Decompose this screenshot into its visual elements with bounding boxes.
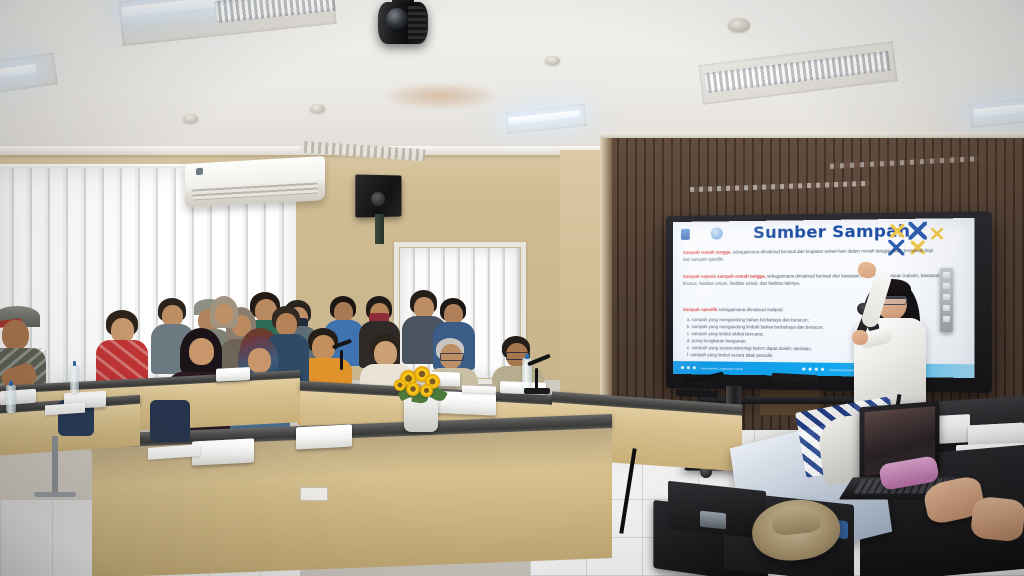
camera-lens-icon: [386, 8, 408, 32]
display-side-control-panel[interactable]: [940, 268, 953, 332]
smoke-detector-icon: [310, 104, 325, 113]
slide-paragraph-1-lead: Sampah rumah tangga,: [683, 250, 732, 255]
sunflower: [406, 382, 420, 396]
chair-base: [34, 492, 76, 497]
ceiling-water-stain: [386, 84, 494, 108]
display-button-4[interactable]: [943, 305, 950, 311]
eyeglasses-icon: [440, 353, 464, 361]
desk-label: [300, 487, 328, 501]
presenter-hand: [852, 330, 868, 345]
console-display: [700, 511, 726, 530]
chair-leg: [52, 436, 58, 496]
slide-footer-left-text: Kementerian Lingkungan Hidup: [701, 366, 743, 371]
display-button-3[interactable]: [943, 294, 950, 300]
speaker-bracket: [375, 214, 384, 244]
slide-paragraph-1: Sampah rumah tangga, sebagaimana dimaksu…: [683, 248, 940, 263]
gooseneck-microphone: [535, 368, 538, 390]
institution-logo-icon: [681, 229, 690, 240]
secondary-logo-icon: [711, 227, 723, 239]
smoke-detector-icon: [545, 56, 560, 65]
operator-hand: [970, 495, 1024, 542]
slide-paragraph-2-lead: Sampah sejenis sampah rumah tangga,: [683, 274, 766, 279]
notepad: [462, 385, 496, 393]
meal-box: [296, 425, 352, 450]
microphone-base: [524, 388, 550, 394]
sunflower: [420, 384, 433, 397]
chair-back: [150, 400, 190, 442]
meal-box: [192, 438, 254, 465]
slide-paragraph-3-lead: Sampah spesifik: [683, 307, 718, 312]
smoke-detector-icon: [183, 114, 198, 123]
display-button-2[interactable]: [943, 283, 950, 289]
dome-ribs: [408, 6, 426, 42]
display-button-1[interactable]: [943, 272, 950, 278]
meal-box: [216, 367, 250, 382]
water-bottle: [6, 385, 16, 413]
sunflower: [394, 379, 406, 391]
display-button-5[interactable]: [943, 316, 950, 322]
gooseneck-microphone: [340, 350, 343, 370]
water-bottle: [70, 365, 79, 393]
air-conditioner: [185, 156, 325, 208]
speaker-cone-icon: [371, 192, 385, 206]
slide-paragraph-3-body: sebagaimana dimaksud meliputi:: [719, 307, 784, 312]
photo-scene: Sumber Sampah Sampah rumah tangga, sebag…: [0, 0, 1024, 576]
air-conditioner-led: [196, 168, 203, 175]
smoke-detector-icon: [728, 18, 750, 32]
ceiling-dome-camera: [378, 0, 428, 50]
